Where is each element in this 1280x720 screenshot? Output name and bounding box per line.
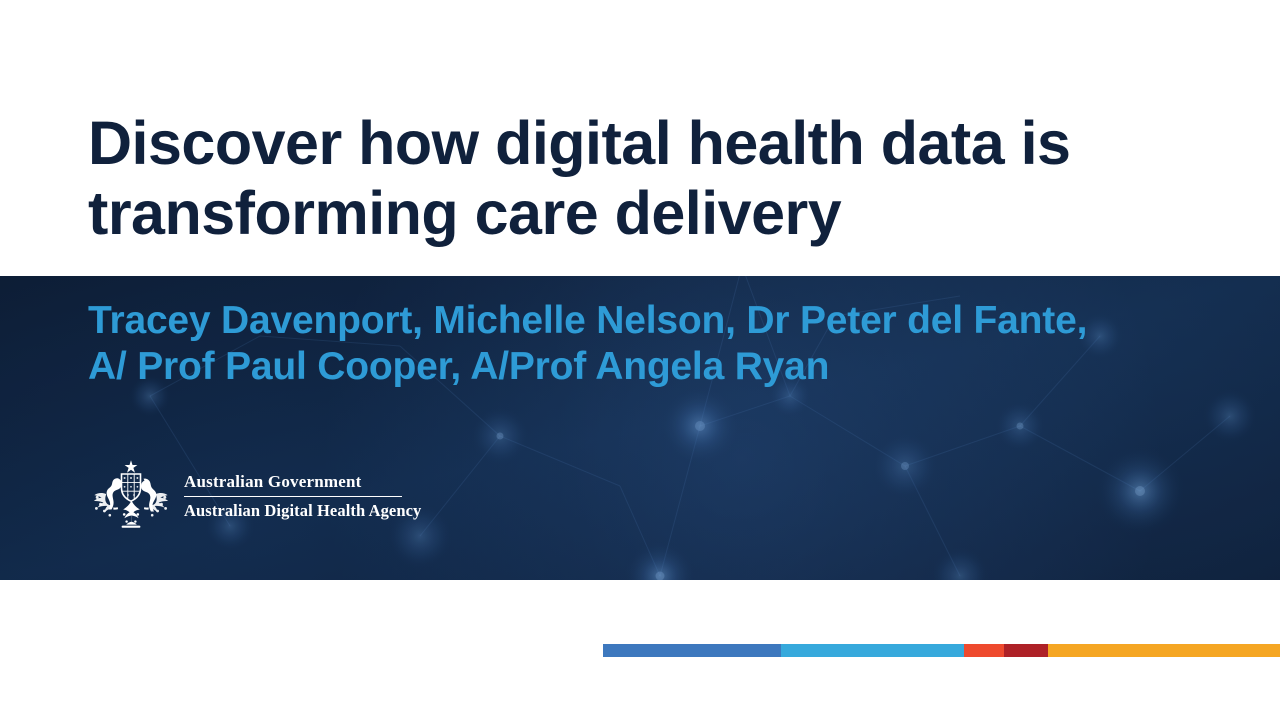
logo-divider-rule xyxy=(184,496,402,497)
logo-text-block: Australian Government Australian Digital… xyxy=(184,468,421,522)
presentation-slide: Discover how digital health data is tran… xyxy=(0,0,1280,720)
accent-segment-amber xyxy=(1048,644,1280,657)
page-title: Discover how digital health data is tran… xyxy=(88,108,1158,248)
subtitle-block: Tracey Davenport, Michelle Nelson, Dr Pe… xyxy=(88,298,1108,390)
presenter-names: Tracey Davenport, Michelle Nelson, Dr Pe… xyxy=(88,298,1108,390)
logo-agency-label: Australian Digital Health Agency xyxy=(184,500,421,522)
accent-segment-steel-blue xyxy=(603,644,781,657)
accent-color-bar xyxy=(603,644,1280,657)
australian-coat-of-arms-icon xyxy=(88,458,174,532)
organisation-logo: Australian Government Australian Digital… xyxy=(88,458,421,532)
title-block: Discover how digital health data is tran… xyxy=(88,108,1158,248)
accent-segment-dark-red xyxy=(1004,644,1048,657)
accent-segment-light-blue xyxy=(781,644,964,657)
accent-segment-orange-red xyxy=(964,644,1005,657)
logo-government-label: Australian Government xyxy=(184,470,421,493)
